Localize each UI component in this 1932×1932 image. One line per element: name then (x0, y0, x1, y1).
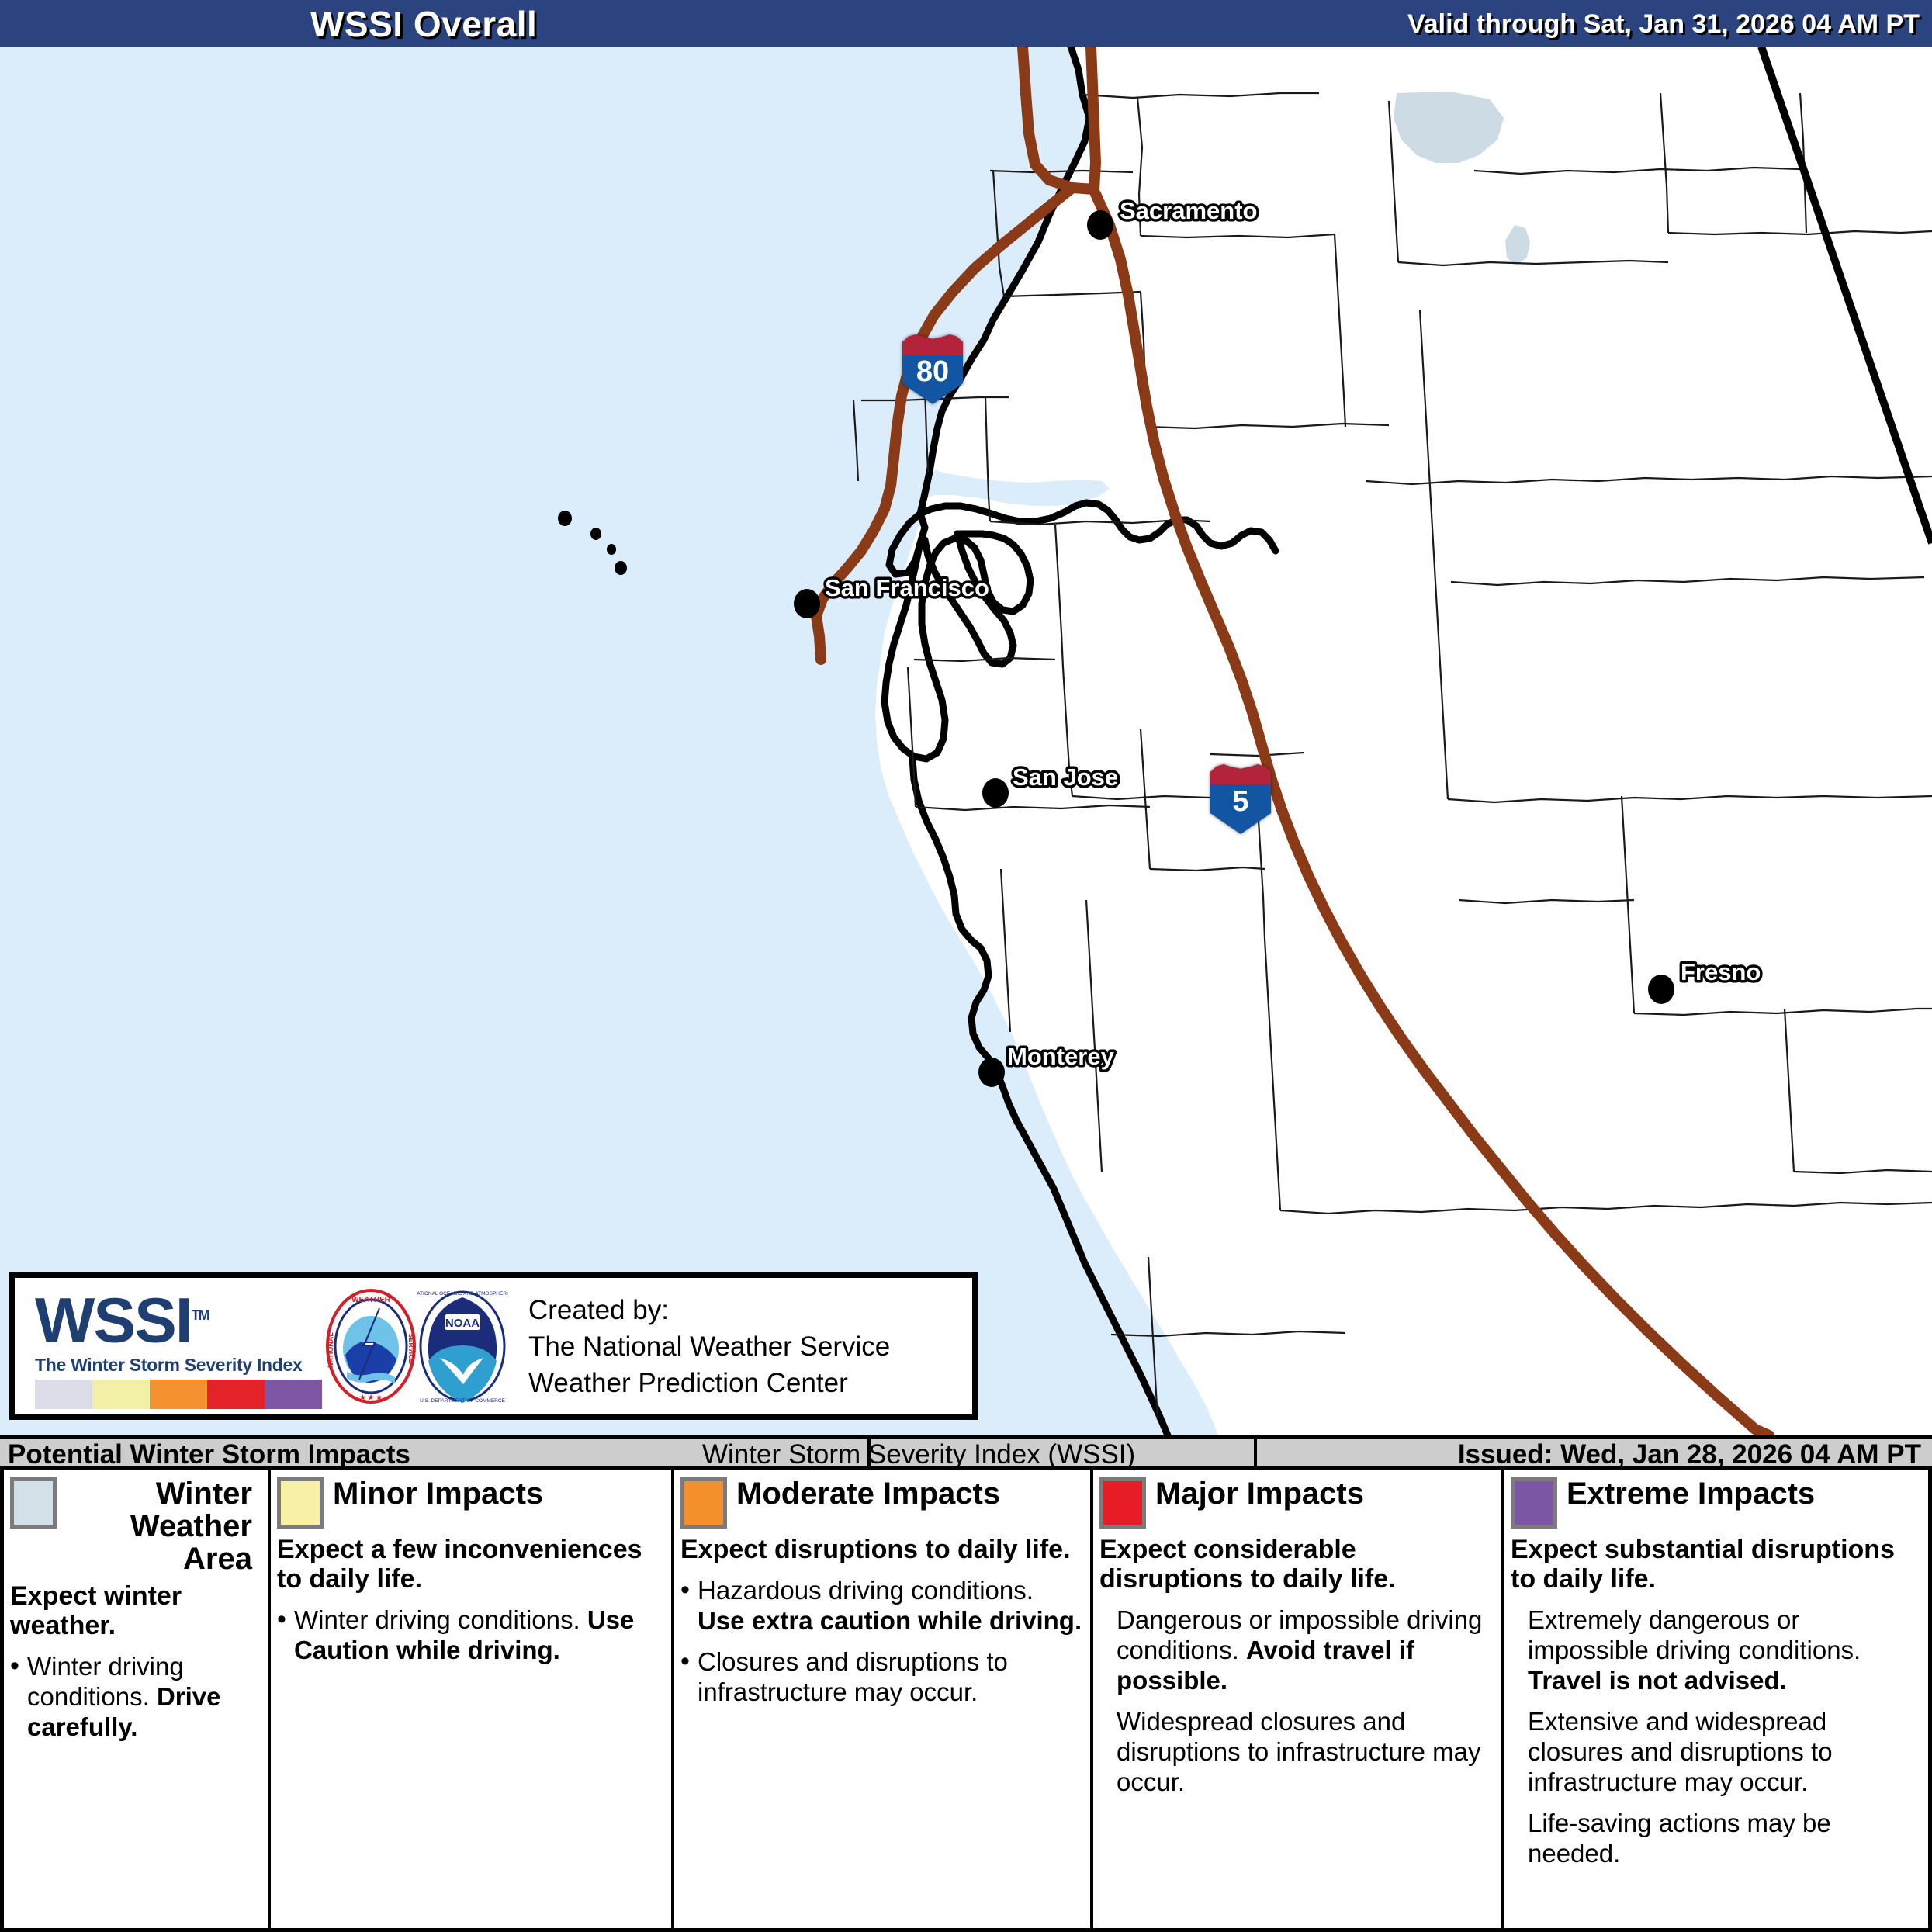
svg-text:NOAA: NOAA (445, 1317, 480, 1330)
legend-bullet: •Hazardous driving conditions. Use extra… (680, 1575, 1084, 1636)
legend-bullet: •Life-saving actions may be needed. (1511, 1808, 1922, 1868)
wssi-wordmark: WSSITM (35, 1283, 325, 1352)
legend-color-swatch (680, 1477, 727, 1529)
farallon-islands (558, 511, 627, 575)
svg-text:WEATHER: WEATHER (351, 1296, 391, 1304)
legend-bullet: •Winter driving conditions. Drive carefu… (10, 1651, 261, 1742)
impacts-bar-center-label: Winter Storm Severity Index (WSSI) (702, 1439, 1135, 1470)
impacts-bar-left-label: Potential Winter Storm Impacts (8, 1439, 410, 1470)
legend-bullet-emphasis: Drive carefully. (27, 1682, 221, 1741)
legend-column-extreme-impacts[interactable]: Extreme ImpactsExpect substantial disrup… (1501, 1470, 1928, 1928)
wssi-logo: WSSITM The Winter Storm Severity Index (15, 1283, 325, 1408)
legend-summary: Expect winter weather. (10, 1581, 261, 1640)
legend-summary: Expect a few inconveniences to daily lif… (277, 1535, 665, 1594)
wssi-strip-swatch (92, 1380, 150, 1409)
legend-column-moderate-impacts[interactable]: Moderate ImpactsExpect disruptions to da… (671, 1470, 1090, 1928)
bullet-icon: • (680, 1575, 698, 1636)
map-canvas[interactable]: SacramentoSan FranciscoSan JoseFresnoMon… (0, 47, 1932, 1435)
trademark-icon: TM (192, 1307, 209, 1323)
wssi-color-strip (35, 1380, 322, 1409)
wssi-credit-box: WSSITM The Winter Storm Severity Index W… (9, 1272, 978, 1420)
city-label: Fresno (1681, 958, 1761, 985)
wssi-strip-swatch (150, 1380, 207, 1409)
interstate-shield-80: 80 (902, 334, 963, 404)
city-label: San Francisco (825, 574, 989, 601)
wssi-strip-swatch (35, 1380, 92, 1409)
legend-title: Extreme Impacts (1567, 1477, 1815, 1510)
page-title: WSSI Overall (310, 3, 537, 45)
city-dot (1087, 210, 1113, 240)
bullet-icon: • (680, 1646, 698, 1707)
city-label: Monterey (1007, 1043, 1115, 1070)
shield-body: 5 (1210, 784, 1271, 834)
wssi-strip-swatch (265, 1380, 322, 1409)
legend-column-minor-impacts[interactable]: Minor ImpactsExpect a few inconveniences… (268, 1470, 671, 1928)
legend-color-swatch (10, 1477, 57, 1529)
legend-color-swatch (277, 1477, 324, 1529)
legend-bullet: •Winter driving conditions. Use Caution … (277, 1605, 665, 1665)
city-dot (978, 1058, 1005, 1087)
interstate-shield-5: 5 (1210, 764, 1271, 834)
impacts-bar: Potential Winter Storm Impacts Winter St… (0, 1435, 1932, 1470)
shield-body: 80 (902, 355, 963, 404)
legend-bullet-text: Widespread closures and disruptions to i… (1117, 1706, 1495, 1797)
legend-header: Winter Weather Area (10, 1477, 261, 1575)
created-by-line-1: Created by: (528, 1292, 890, 1328)
city-dot (982, 778, 1009, 808)
svg-text:★ ★ ★: ★ ★ ★ (359, 1394, 383, 1401)
legend-bullet-text: Extremely dangerous or impossible drivin… (1528, 1605, 1922, 1695)
city-dot (794, 589, 820, 618)
legend-title: Winter Weather Area (66, 1477, 252, 1575)
legend-bullet: •Extensive and widespread closures and d… (1511, 1706, 1922, 1797)
legend-bullet-text: Winter driving conditions. Use Caution w… (294, 1605, 665, 1665)
city-label: Sacramento (1120, 197, 1257, 224)
legend-column-major-impacts[interactable]: Major ImpactsExpect considerable disrupt… (1090, 1470, 1501, 1928)
legend-bullet-text: Closures and disruptions to infrastructu… (698, 1646, 1084, 1707)
wssi-strip-swatch (207, 1380, 265, 1409)
svg-text:NATIONAL OCEANIC AND ATMOSPHER: NATIONAL OCEANIC AND ATMOSPHERIC (417, 1291, 508, 1297)
map-vector: SacramentoSan FranciscoSan JoseFresnoMon… (0, 47, 1932, 1435)
nws-seal-icon: WEATHER ★ ★ ★ NATIONAL SERVICE (325, 1288, 417, 1404)
bullet-icon: • (10, 1651, 27, 1742)
legend-bullet-text: Dangerous or impossible driving conditio… (1117, 1605, 1495, 1695)
city-dot (1648, 975, 1674, 1004)
legend-title: Moderate Impacts (736, 1477, 1000, 1510)
created-by-line-3: Weather Prediction Center (528, 1365, 890, 1401)
legend-summary: Expect considerable disruptions to daily… (1099, 1535, 1495, 1594)
legend-bullet: •Closures and disruptions to infrastruct… (680, 1646, 1084, 1707)
legend-title: Major Impacts (1155, 1477, 1364, 1510)
shield-number: 80 (902, 355, 963, 389)
shield-top-band (902, 334, 963, 355)
valid-through-text: Valid through Sat, Jan 31, 2026 04 AM PT (1407, 9, 1920, 40)
legend-summary: Expect substantial disruptions to daily … (1511, 1535, 1922, 1594)
legend-summary: Expect disruptions to daily life. (680, 1535, 1084, 1564)
legend-bullet-text: Extensive and widespread closures and di… (1528, 1706, 1922, 1797)
legend-title: Minor Impacts (333, 1477, 543, 1510)
city-label: San Jose (1013, 763, 1118, 791)
legend-bullet-text: Winter driving conditions. Drive careful… (27, 1651, 261, 1742)
legend-column-winter-weather-area[interactable]: Winter Weather AreaExpect winter weather… (4, 1470, 268, 1928)
legend-bullet: •Extremely dangerous or impossible drivi… (1511, 1605, 1922, 1695)
legend-bullet-emphasis: Use extra caution while driving. (698, 1606, 1082, 1635)
legend-header: Minor Impacts (277, 1477, 665, 1529)
svg-text:NATIONAL: NATIONAL (327, 1332, 334, 1368)
legend-bullet-text: Life-saving actions may be needed. (1528, 1808, 1922, 1868)
legend-bullet-emphasis: Avoid travel if possible. (1117, 1636, 1414, 1695)
bullet-icon: • (277, 1605, 294, 1665)
svg-text:U.S. DEPARTMENT OF COMMERCE: U.S. DEPARTMENT OF COMMERCE (420, 1398, 505, 1404)
wssi-map-page: WSSI Overall Valid through Sat, Jan 31, … (0, 0, 1932, 1932)
created-by-line-2: The National Weather Service (528, 1328, 890, 1365)
impacts-bar-divider-2 (1254, 1439, 1257, 1466)
shield-top-band (1210, 764, 1271, 784)
wssi-tagline: The Winter Storm Severity Index (35, 1355, 325, 1376)
created-by-block: Created by: The National Weather Service… (528, 1292, 890, 1401)
legend-header: Moderate Impacts (680, 1477, 1084, 1529)
noaa-seal-icon: NOAA NATIONAL OCEANIC AND ATMOSPHERIC U.… (417, 1288, 508, 1404)
svg-text:SERVICE: SERVICE (407, 1333, 415, 1363)
issued-label: Issued: Wed, Jan 28, 2026 04 AM PT (1458, 1439, 1921, 1470)
legend-color-swatch (1099, 1477, 1146, 1529)
shield-number: 5 (1210, 784, 1271, 819)
impacts-legend: Winter Weather AreaExpect winter weather… (0, 1470, 1932, 1932)
legend-bullet-emphasis: Use Caution while driving. (294, 1605, 634, 1664)
legend-color-swatch (1511, 1477, 1557, 1529)
legend-bullet: •Dangerous or impossible driving conditi… (1099, 1605, 1495, 1695)
page-header: WSSI Overall Valid through Sat, Jan 31, … (0, 0, 1932, 47)
legend-header: Extreme Impacts (1511, 1477, 1922, 1529)
legend-bullet-text: Hazardous driving conditions. Use extra … (698, 1575, 1084, 1636)
legend-header: Major Impacts (1099, 1477, 1495, 1529)
wssi-wordmark-text: WSSI (35, 1286, 192, 1356)
legend-bullet-emphasis: Travel is not advised. (1528, 1666, 1787, 1695)
legend-bullet: •Widespread closures and disruptions to … (1099, 1706, 1495, 1797)
